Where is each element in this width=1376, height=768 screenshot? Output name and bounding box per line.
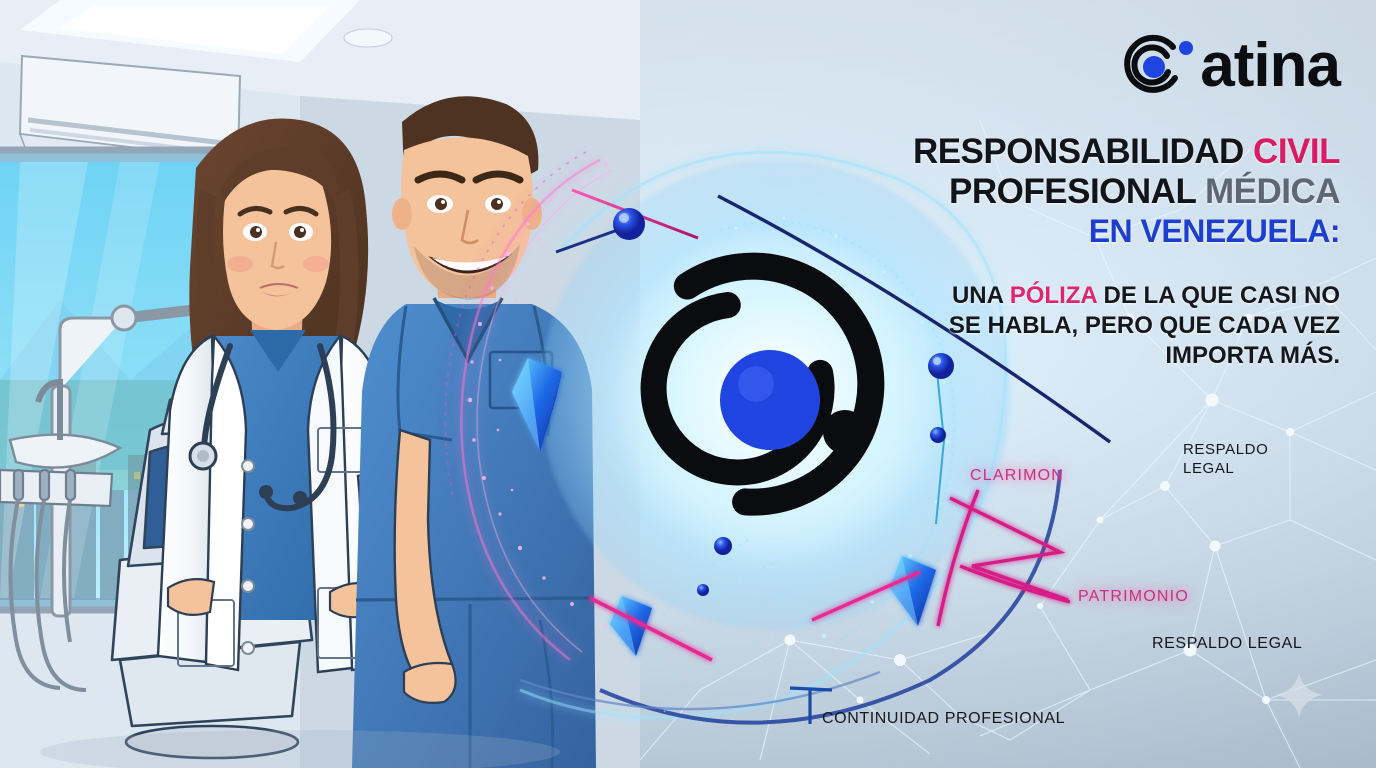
title-line-3-accent: EN VENEZUELA: (1089, 213, 1340, 249)
title-line-2-accent: MÉDICA (1205, 172, 1340, 211)
callout-clarimon: CLARIMON (970, 467, 1064, 485)
callout-respaldo-legal-top: RESPALDO LEGAL (1183, 440, 1268, 478)
title-line-1-accent: CIVIL (1253, 132, 1340, 171)
title-line-1-primary: RESPONSABILIDAD (913, 132, 1244, 171)
callout-respaldo-legal-bottom: RESPALDO LEGAL (1152, 634, 1302, 653)
title-line-2-primary: PROFESIONAL (949, 172, 1196, 211)
brand-logo-text: atina (1200, 35, 1340, 97)
callout-patrimonio: PATRIMONIO (1078, 588, 1189, 606)
callout-continuidad-profesional: CONTINUIDAD PROFESIONAL (822, 709, 1065, 728)
title-line-1: RESPONSABILIDAD CIVIL (820, 132, 1340, 172)
title-line-2: PROFESIONAL MÉDICA (820, 172, 1340, 212)
callout-respaldo-legal-top-line2: LEGAL (1183, 459, 1268, 478)
page-title: RESPONSABILIDAD CIVIL PROFESIONAL MÉDICA… (820, 132, 1340, 250)
brand-logo[interactable]: atina (1118, 30, 1340, 102)
center-emblem-graphic (632, 222, 915, 521)
poster-canvas: atina RESPONSABILIDAD CIVIL PROFESIONAL … (0, 0, 1376, 768)
logo-accent-dot (1178, 40, 1194, 56)
subtitle-part-1: UNA (952, 282, 1010, 309)
callout-respaldo-legal-top-line1: RESPALDO (1183, 440, 1268, 459)
four-point-sparkle-icon (1276, 672, 1322, 718)
subtitle-highlight: PÓLIZA (1010, 282, 1097, 309)
title-line-3: EN VENEZUELA: (820, 212, 1340, 250)
subtitle: UNA PÓLIZA DE LA QUE CASI NO SE HABLA, P… (945, 281, 1340, 371)
